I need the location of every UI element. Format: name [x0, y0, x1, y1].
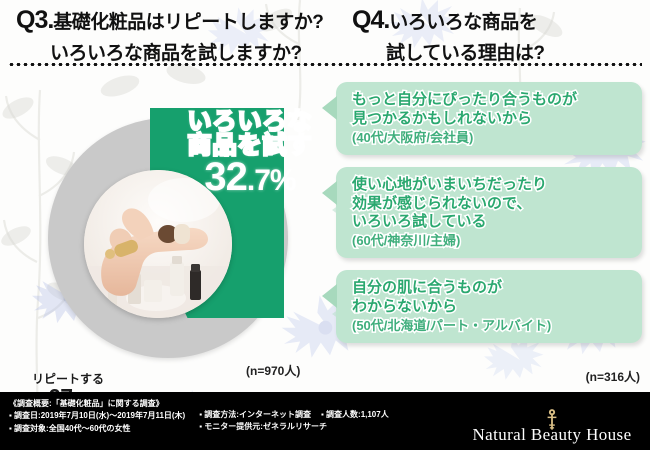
- center-photo-cosmetics: [84, 170, 232, 318]
- logo-brand-name: Natural Beauty House: [468, 425, 636, 445]
- infographic-canvas: Q3. 基礎化粧品はリピートしますか? いろいろな商品を試しますか? Q4. い…: [0, 0, 650, 450]
- brand-logo: BEAUTIFUL FAVORITE BE NATURAL Natural Be…: [468, 400, 636, 446]
- answer-list: もっと自分にぴったり合うものが 見つかるかもしれないから (40代/大阪府/会社…: [336, 82, 642, 355]
- answer-2-line-1: 使い心地がいまいちだったり: [352, 176, 630, 195]
- sample-size-left: (n=970人): [246, 362, 300, 379]
- sample-size-right: (n=316人): [586, 368, 640, 385]
- answer-3-line-2: わからないから: [352, 298, 630, 317]
- survey-method: ▪ 調査方法:インターネット調査: [199, 409, 311, 421]
- q3-line1: 基礎化粧品はリピートしますか?: [53, 7, 323, 34]
- answer-card-1[interactable]: もっと自分にぴったり合うものが 見つかるかもしれないから (40代/大阪府/会社…: [336, 82, 642, 155]
- dotted-divider: [8, 63, 642, 66]
- footer-bar: 《調査概要:「基礎化粧品」に関する調査》 ▪ 調査日:2019年7月10日(水)…: [0, 392, 650, 450]
- answer-2-line-3: いろいろ試している: [352, 213, 630, 232]
- survey-col-2: ▪ 調査方法:インターネット調査 ▪ 調査人数:1,107人 ▪ モニター提供元…: [199, 398, 388, 435]
- speech-tail-icon: [322, 181, 337, 205]
- q4-line1: いろいろな商品を: [389, 7, 537, 34]
- pie-chart: いろいろな 商品を試す 32.7% リピートする 67.3%: [22, 78, 332, 378]
- q4-line2: 試している理由は?: [352, 38, 545, 65]
- question-q4: Q4. いろいろな商品を 試している理由は?: [352, 6, 545, 65]
- answer-card-3[interactable]: 自分の肌に合うものが わからないから (50代/北海道/パート・アルバイト): [336, 270, 642, 343]
- survey-target: ▪ 調査対象:全国40代〜60代の女性: [9, 423, 185, 435]
- answer-card-2[interactable]: 使い心地がいまいちだったり 効果が感じられないので、 いろいろ試している (60…: [336, 167, 642, 259]
- answer-3-line-1: 自分の肌に合うものが: [352, 279, 630, 298]
- answer-1-meta: (40代/大阪府/会社員): [352, 130, 630, 147]
- question-q3: Q3. 基礎化粧品はリピートしますか? いろいろな商品を試しますか?: [16, 6, 323, 65]
- survey-title: 《調査概要:「基礎化粧品」に関する調査》: [9, 398, 185, 410]
- survey-summary: 《調査概要:「基礎化粧品」に関する調査》 ▪ 調査日:2019年7月10日(水)…: [9, 398, 389, 435]
- q3-tag: Q3.: [16, 6, 53, 35]
- q4-tag: Q4.: [352, 6, 389, 35]
- header: Q3. 基礎化粧品はリピートしますか? いろいろな商品を試しますか? Q4. い…: [0, 0, 650, 66]
- survey-col-1: 《調査概要:「基礎化粧品」に関する調査》 ▪ 調査日:2019年7月10日(水)…: [9, 398, 185, 435]
- answer-1-line-1: もっと自分にぴったり合うものが: [352, 91, 630, 110]
- q3-line2: いろいろな商品を試しますか?: [16, 38, 323, 65]
- survey-date: ▪ 調査日:2019年7月10日(水)〜2019年7月11日(木): [9, 410, 185, 422]
- speech-tail-icon: [322, 96, 337, 120]
- answer-2-meta: (60代/神奈川/主婦): [352, 233, 630, 250]
- survey-monitor-provider: ▪ モニター提供元:ゼネラルリサーチ: [199, 421, 388, 433]
- answer-3-meta: (50代/北海道/パート・アルバイト): [352, 318, 630, 335]
- survey-count: ▪ 調査人数:1,107人: [321, 409, 389, 421]
- speech-tail-icon: [322, 284, 337, 308]
- answer-1-line-2: 見つかるかもしれないから: [352, 110, 630, 129]
- answer-2-line-2: 効果が感じられないので、: [352, 195, 630, 214]
